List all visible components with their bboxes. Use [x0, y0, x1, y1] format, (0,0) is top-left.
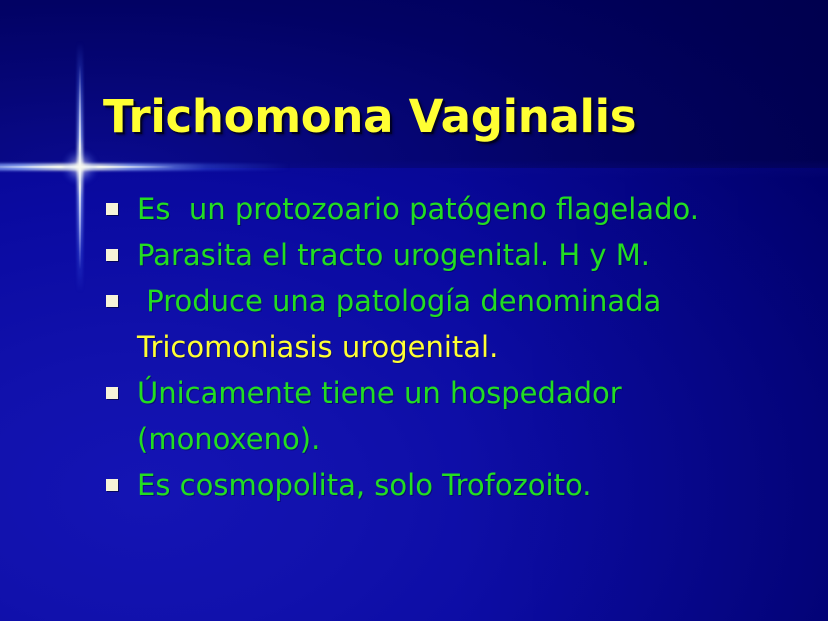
list-item-text: Únicamente tiene un hospedador(monoxeno)… [137, 370, 804, 462]
list-item-text: Produce una patología denominadaTricomon… [137, 278, 804, 370]
list-item-line: Es un protozoario patógeno flagelado. [137, 192, 699, 226]
list-item-line: Únicamente tiene un hospedador [137, 376, 622, 410]
square-bullet-icon [106, 203, 118, 215]
list-item: Es un protozoario patógeno flagelado. [104, 186, 804, 232]
slide-background-horizon [0, 160, 828, 178]
slide-body-list: Es un protozoario patógeno flagelado. Pa… [104, 186, 804, 508]
list-item-text: Es cosmopolita, solo Trofozoito. [137, 462, 804, 508]
list-item: Es cosmopolita, solo Trofozoito. [104, 462, 804, 508]
square-bullet-icon [106, 295, 118, 307]
presentation-slide: Trichomona Vaginalis Es un protozoario p… [0, 0, 828, 621]
square-bullet-icon [106, 249, 118, 261]
list-item-line: Produce una patología denominada [137, 284, 661, 318]
list-item-line: Parasita el tracto urogenital. H y M. [137, 238, 650, 272]
list-item: Parasita el tracto urogenital. H y M. [104, 232, 804, 278]
square-bullet-icon [106, 479, 118, 491]
list-item-line: Es cosmopolita, solo Trofozoito. [137, 468, 591, 502]
list-item-text: Es un protozoario patógeno flagelado. [137, 186, 804, 232]
list-item-wrapped-line: Tricomoniasis urogenital. [137, 324, 804, 370]
list-item: Únicamente tiene un hospedador(monoxeno)… [104, 370, 804, 462]
square-bullet-icon [106, 387, 118, 399]
slide-title: Trichomona Vaginalis [103, 93, 636, 140]
list-item-wrapped-line: (monoxeno). [137, 416, 804, 462]
list-item-text: Parasita el tracto urogenital. H y M. [137, 232, 804, 278]
list-item: Produce una patología denominadaTricomon… [104, 278, 804, 370]
